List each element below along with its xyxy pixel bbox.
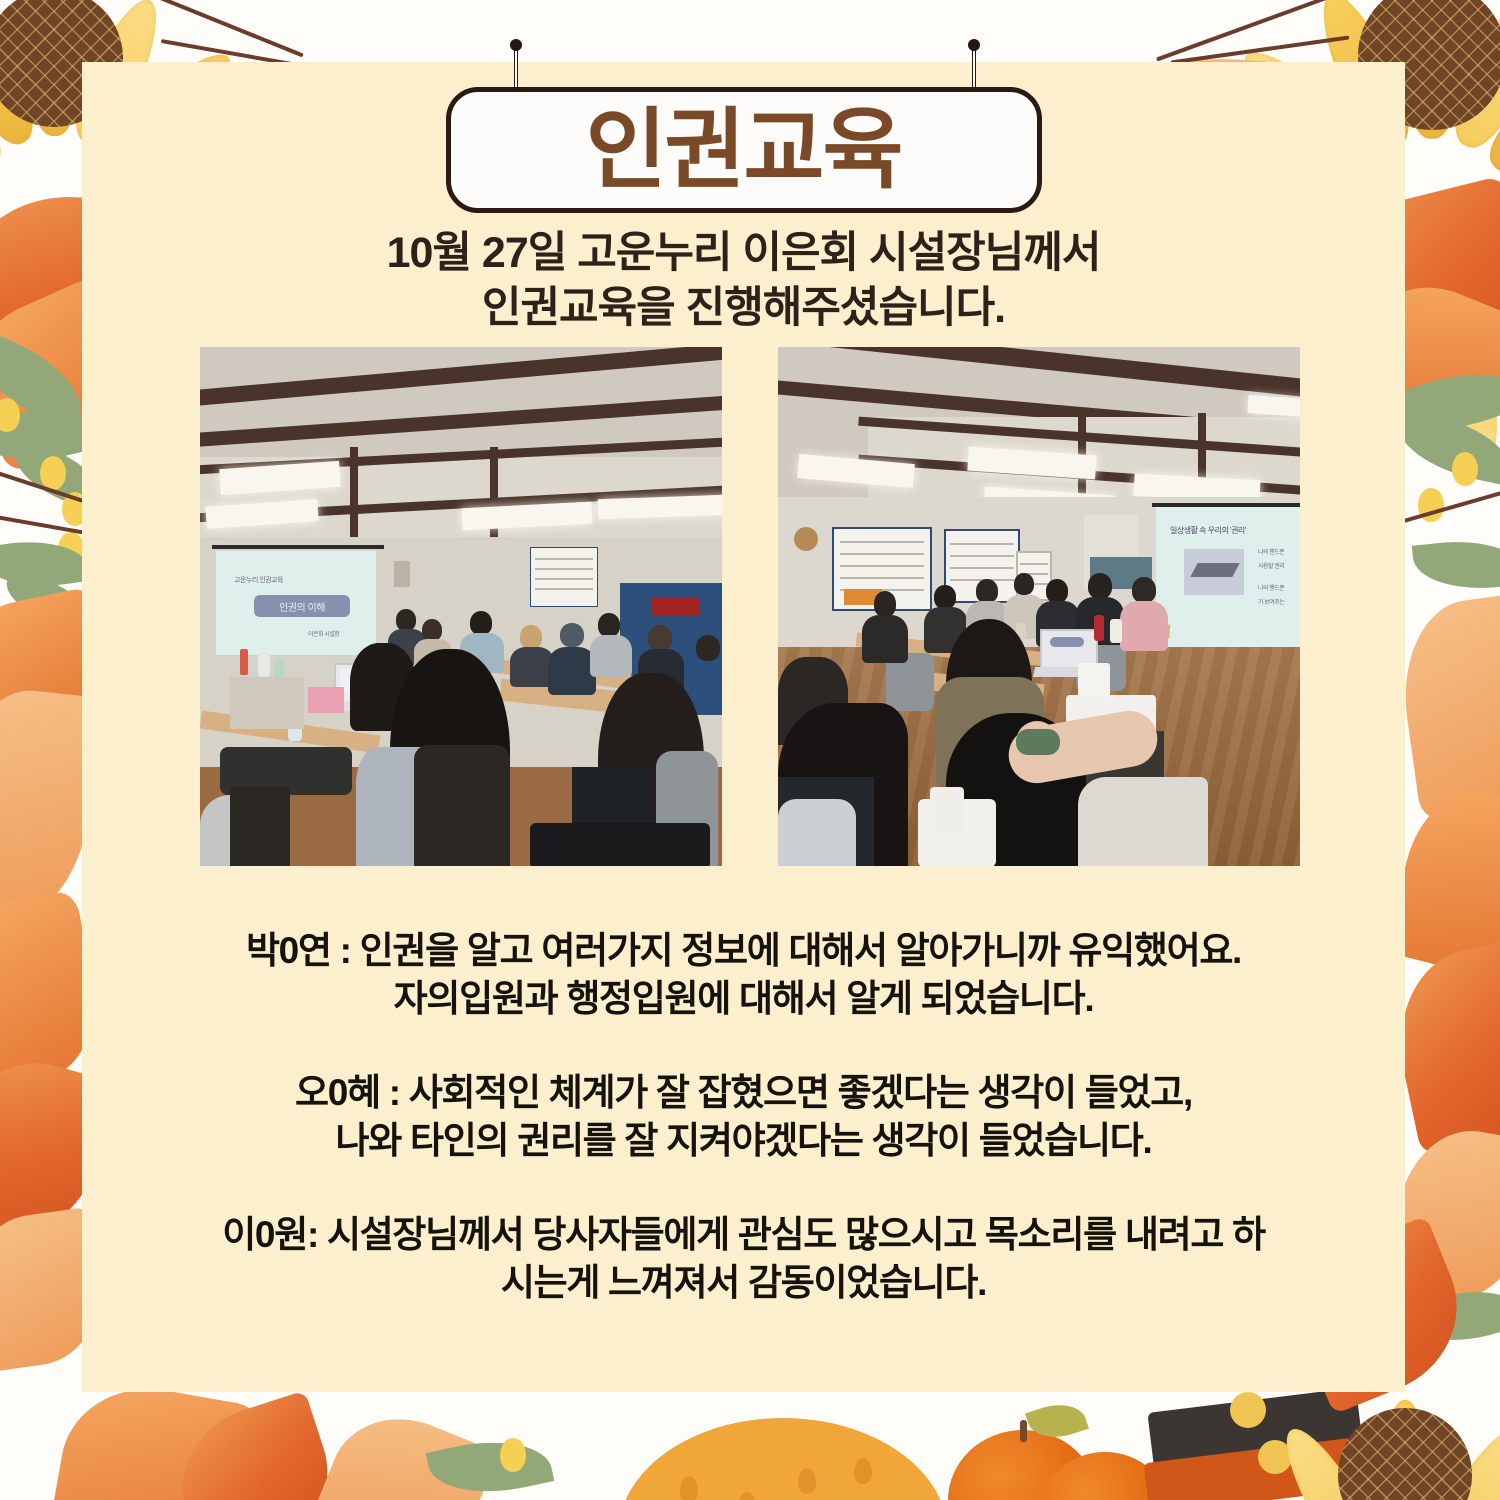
testimonial-line: 박0연 : 인권을 알고 여러가지 정보에 대해서 알아가니까 유익했어요. <box>142 927 1345 975</box>
berry-icon <box>58 532 84 566</box>
leaf-icon <box>1405 1274 1500 1357</box>
testimonial-line: 오0혜 : 사회적인 체계가 잘 잡혔으면 좋겠다는 생각이 들었고, <box>142 1069 1345 1117</box>
testimonial-line: 나와 타인의 권리를 잘 지켜야겠다는 생각이 들었습니다. <box>142 1117 1345 1165</box>
twig-icon <box>1402 481 1500 523</box>
subtitle-line-2: 인권교육을 진행해주셨습니다. <box>82 281 1405 336</box>
title-banner: 인권교육 <box>446 87 1042 213</box>
slide-caption-left: 고운누리 인권교육 <box>234 575 283 585</box>
testimonial-line: 이0원: 시설장님께서 당사자들에게 관심도 많으시고 목소리를 내려고 하 <box>142 1211 1345 1259</box>
berry-icon <box>40 456 66 490</box>
content-panel: 인권교육 10월 27일 고운누리 이은회 시설장님께서 인권교육을 진행해주셨… <box>82 62 1405 1392</box>
slide-title-left: 인권의 이해 <box>254 595 350 617</box>
photo-classroom-left: 고운누리 인권교육 인권의 이해 이은회 시설장 <box>200 347 722 866</box>
twig-icon <box>0 508 93 536</box>
slide-footer-left: 이은회 시설장 <box>308 629 339 638</box>
subtitle-line-1: 10월 27일 고운누리 이은회 시설장님께서 <box>82 226 1405 281</box>
persimmon-icon <box>1040 1452 1170 1500</box>
twig-icon <box>126 0 304 57</box>
twig-icon <box>0 552 76 564</box>
berry-icon <box>1418 488 1444 522</box>
berry-icon <box>0 398 20 432</box>
title-banner-area: 인권교육 <box>82 57 1405 217</box>
testimonial-line: 자의입원과 행정입원에 대해서 알게 되었습니다. <box>142 975 1345 1023</box>
leaf-icon <box>1392 591 1500 818</box>
photo-gallery: 고운누리 인권교육 인권의 이해 이은회 시설장 <box>200 347 1300 867</box>
slide-line-2: 사용할 권리 <box>1258 561 1284 570</box>
twig-icon <box>1156 0 1364 62</box>
fruit-stem <box>1020 1420 1027 1442</box>
testimonial-list: 박0연 : 인권을 알고 여러가지 정보에 대해서 알아가니까 유익했어요. 자… <box>142 927 1345 1308</box>
testimonial-item: 이0원: 시설장님께서 당사자들에게 관심도 많으시고 목소리를 내려고 하 시… <box>142 1211 1345 1307</box>
berry-icon <box>1452 452 1478 486</box>
leaf-icon <box>1412 534 1500 595</box>
twig-icon <box>0 460 87 504</box>
leaf-icon <box>162 1390 348 1500</box>
page-title: 인권교육 <box>586 106 902 194</box>
leaf-icon <box>1 571 93 628</box>
leaf-icon <box>426 1428 555 1500</box>
persimmon-icon <box>948 1430 1098 1500</box>
leaf-icon <box>1390 408 1500 486</box>
sunflower-center <box>1338 1408 1471 1500</box>
fruit-leaf <box>1025 1396 1089 1446</box>
berry-icon <box>500 1438 526 1472</box>
subtitle-block: 10월 27일 고운누리 이은회 시설장님께서 인권교육을 진행해주셨습니다. <box>82 226 1405 336</box>
leaf-icon <box>311 1397 499 1500</box>
photo-classroom-right: 일상생활 속 우리의 '권리' 나의 핸드폰 사용할 권리 나의 핸드폰 가 보… <box>778 347 1300 866</box>
notice-board-left <box>530 547 598 607</box>
leaf-icon <box>0 533 91 595</box>
testimonial-item: 오0혜 : 사회적인 체계가 잘 잡혔으면 좋겠다는 생각이 들었고, 나와 타… <box>142 1069 1345 1165</box>
pumpkin-pie-icon <box>618 1418 948 1500</box>
leaf-icon <box>47 1375 264 1500</box>
book-stack-icon <box>1140 1400 1370 1500</box>
slide-line-4: 가 보여주는 <box>1258 597 1284 606</box>
slide-line-1: 나의 핸드폰 <box>1258 547 1284 556</box>
slide-title-right: 일상생활 속 우리의 '권리' <box>1170 525 1246 536</box>
poster-root: 인권교육 10월 27일 고운누리 이은회 시설장님께서 인권교육을 진행해주셨… <box>0 0 1500 1500</box>
testimonial-item: 박0연 : 인권을 알고 여러가지 정보에 대해서 알아가니까 유익했어요. 자… <box>142 927 1345 1023</box>
slide-line-3: 나의 핸드폰 <box>1258 583 1284 592</box>
testimonial-line: 시는게 느껴져서 감동이었습니다. <box>142 1259 1345 1307</box>
